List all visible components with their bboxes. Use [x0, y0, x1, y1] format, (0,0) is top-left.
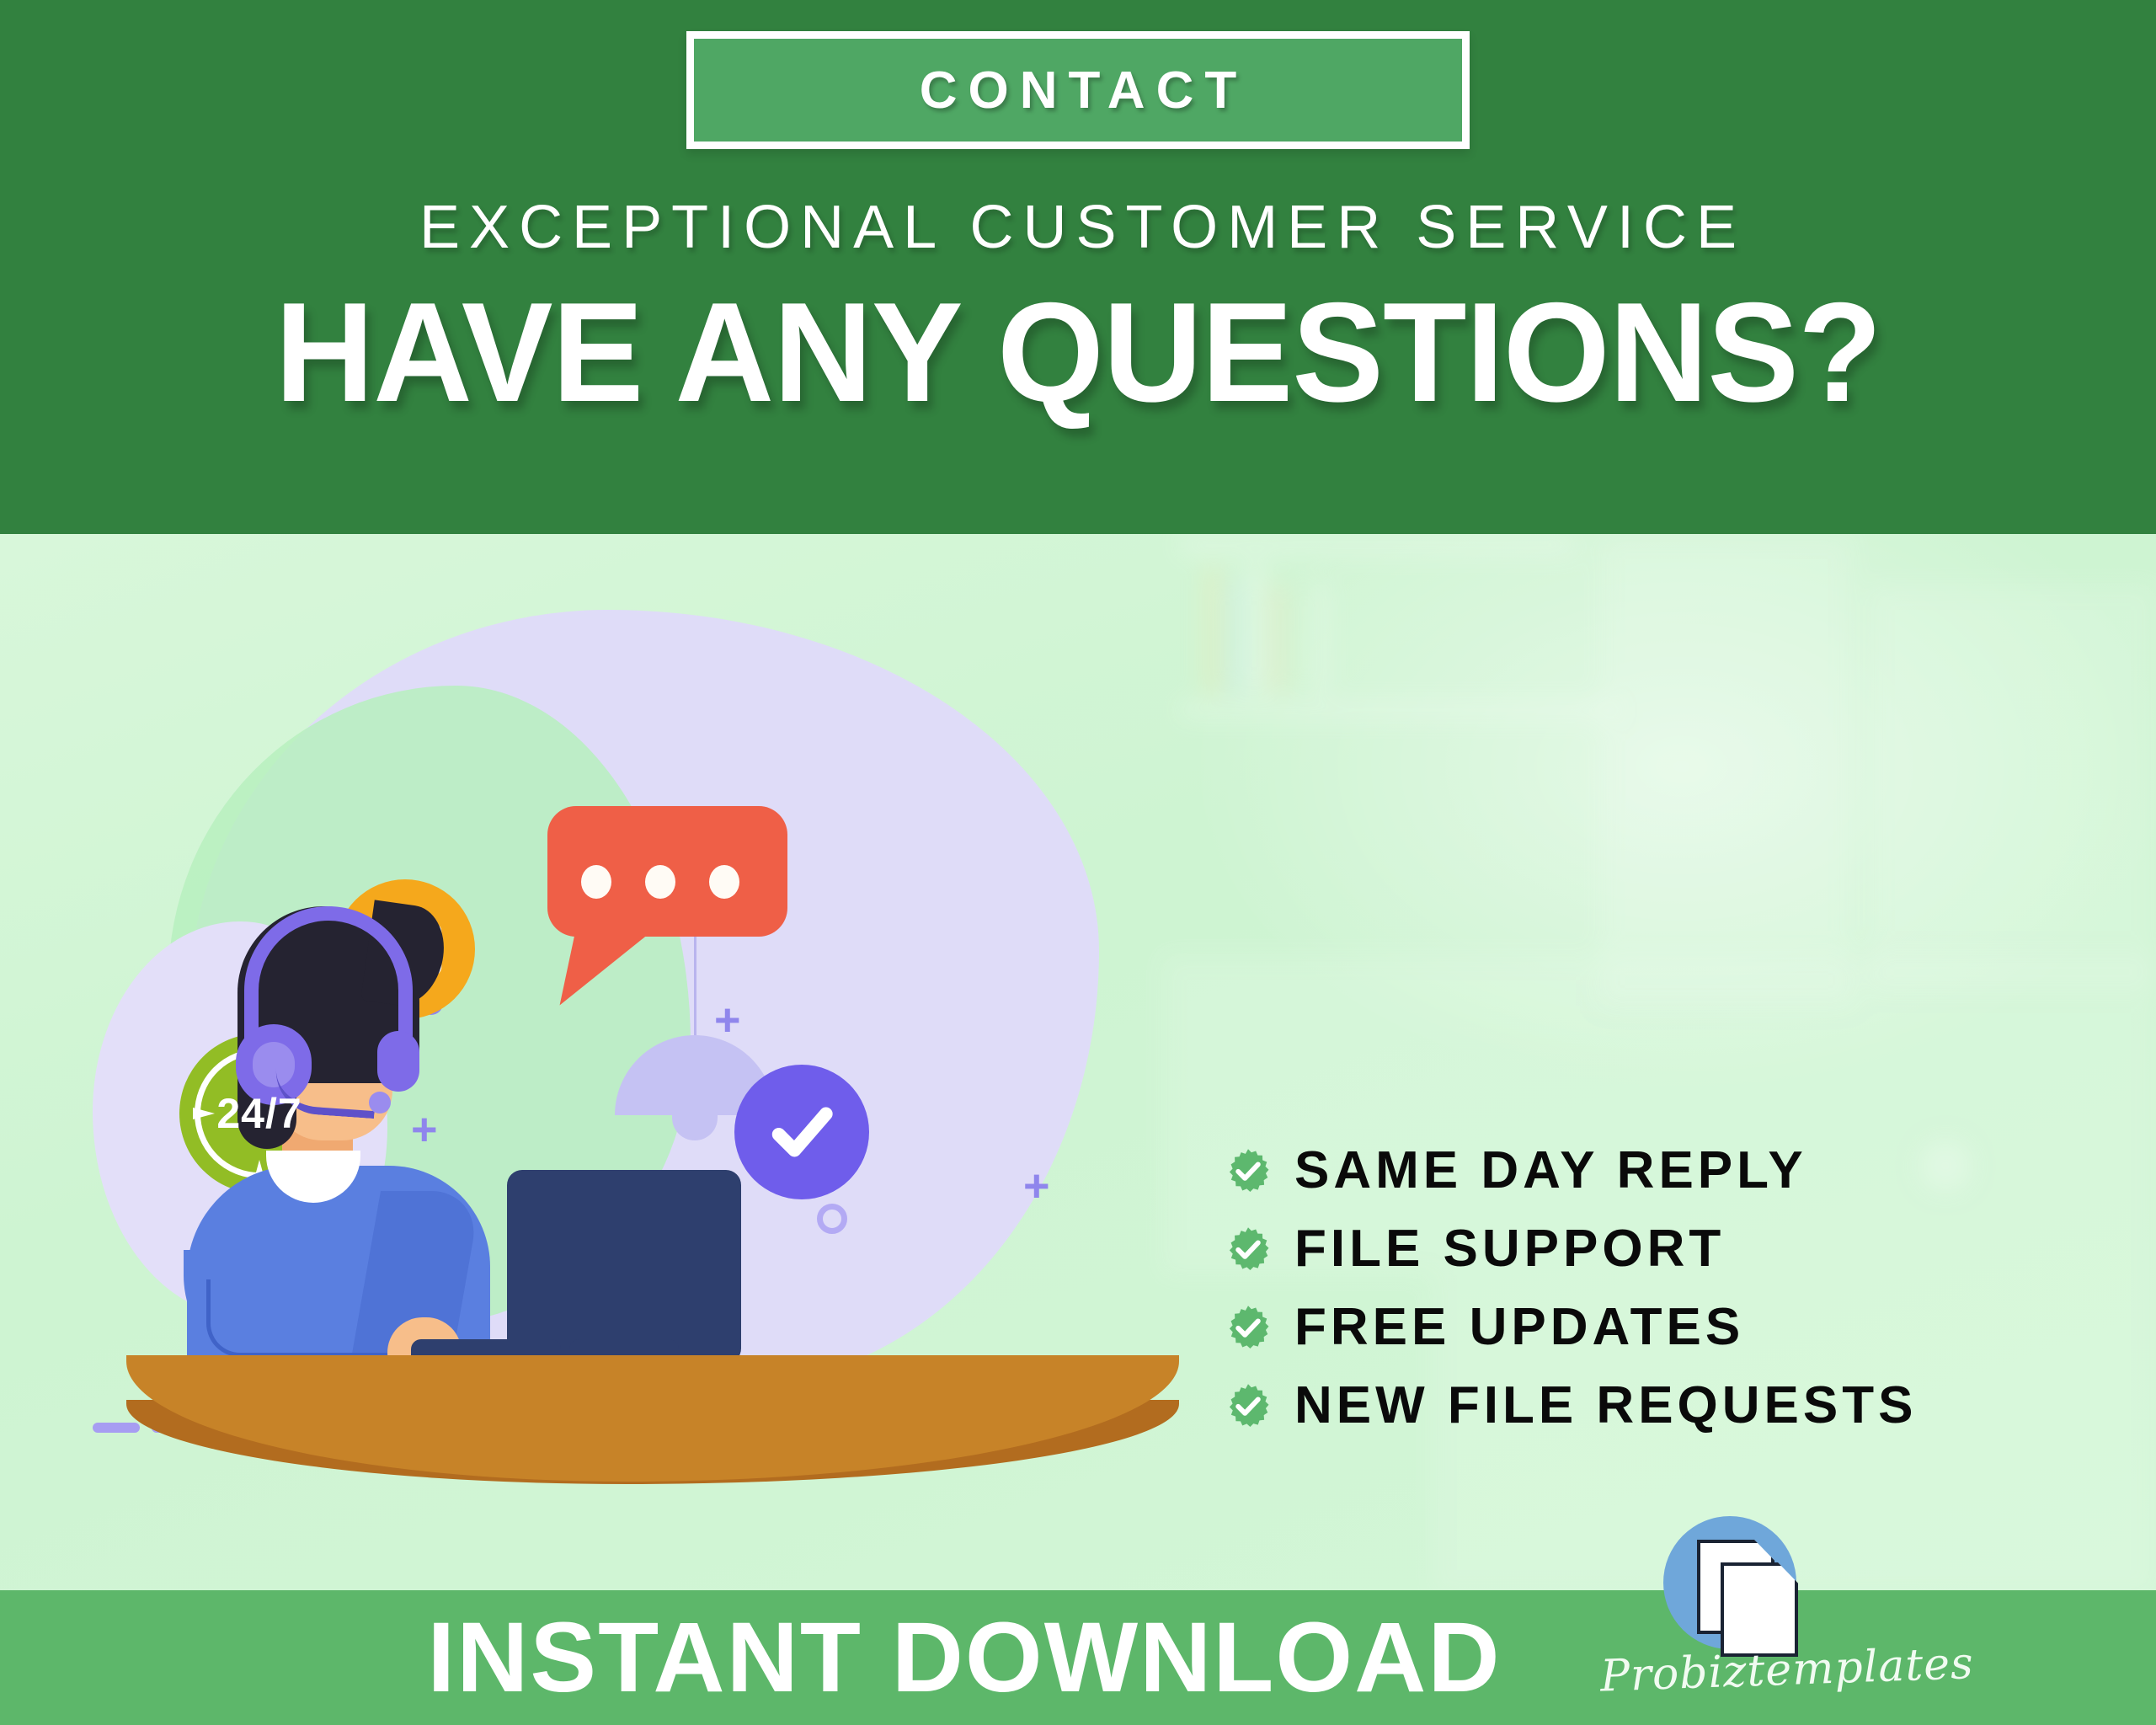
feature-label: FILE SUPPORT [1294, 1219, 1725, 1279]
chat-dot [645, 865, 675, 899]
monitor-screen [507, 1170, 741, 1364]
headset-mic-tip [369, 1092, 391, 1114]
check-badge-icon [1225, 1383, 1271, 1429]
check-badge-icon [1225, 1305, 1271, 1350]
contact-chip: CONTACT [686, 31, 1470, 149]
24-7-label: 24/7 [216, 1089, 302, 1138]
chat-dot [581, 865, 611, 899]
check-circle-icon [734, 1065, 869, 1199]
sleeve-fold-line [206, 1279, 392, 1357]
desk-surface [126, 1355, 1179, 1482]
content-section: + + + [0, 534, 2156, 1590]
feature-label: NEW FILE REQUESTS [1294, 1375, 1917, 1435]
chat-dot [709, 865, 739, 899]
contact-banner-poster: CONTACT EXCEPTIONAL CUSTOMER SERVICE HAV… [0, 0, 2156, 1725]
feature-item: FILE SUPPORT [1225, 1219, 1917, 1279]
feature-label: FREE UPDATES [1294, 1297, 1744, 1357]
plus-decoration: + [411, 1107, 438, 1152]
feature-item: SAME DAY REPLY [1225, 1140, 1917, 1200]
features-list: SAME DAY REPLY FILE SUPPORT [1225, 1140, 1917, 1454]
instant-download-label: INSTANT DOWNLOAD [427, 1600, 1501, 1715]
dash-decoration [93, 1423, 140, 1433]
plus-decoration: + [714, 997, 741, 1043]
documents-icon-sheet-front [1721, 1562, 1798, 1657]
subheading: EXCEPTIONAL CUSTOMER SERVICE [410, 193, 1746, 262]
plus-decoration: + [1023, 1163, 1050, 1209]
feature-label: SAME DAY REPLY [1294, 1140, 1807, 1200]
support-illustration: + + + [109, 534, 1204, 1590]
brand-name: Probiztemplates [1599, 1642, 1870, 1701]
header-section: CONTACT EXCEPTIONAL CUSTOMER SERVICE HAV… [0, 0, 2156, 534]
feature-item: NEW FILE REQUESTS [1225, 1375, 1917, 1435]
headset-earcup-right [377, 1031, 419, 1092]
check-badge-icon [1225, 1226, 1271, 1272]
contact-chip-label: CONTACT [909, 61, 1247, 120]
check-badge-icon [1225, 1148, 1271, 1194]
feature-item: FREE UPDATES [1225, 1297, 1917, 1357]
ring-decoration [817, 1204, 847, 1234]
page-title: HAVE ANY QUESTIONS? [275, 280, 1881, 425]
chat-bubble-icon [547, 806, 787, 937]
lamp-cord [694, 930, 696, 1041]
